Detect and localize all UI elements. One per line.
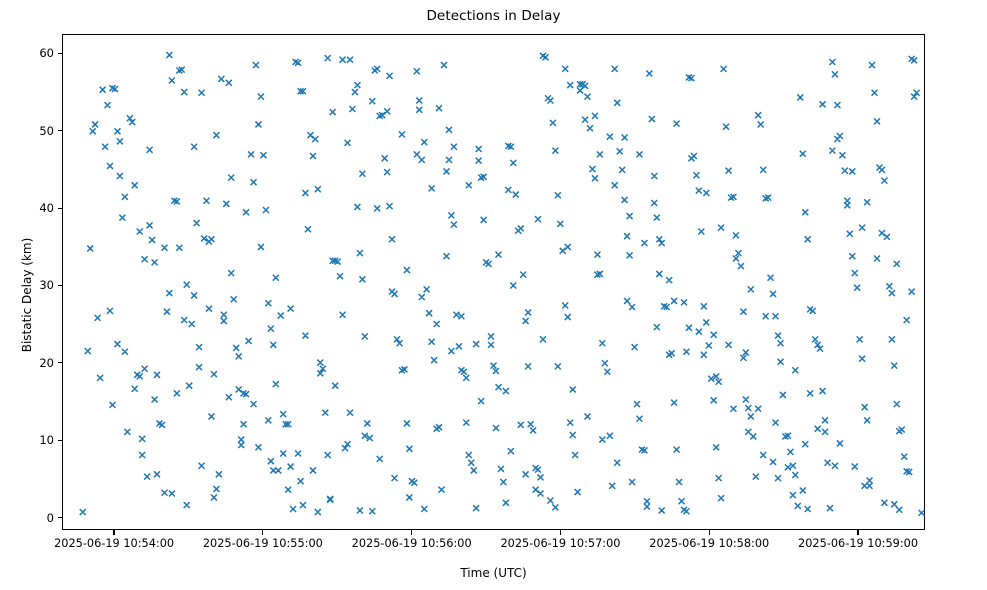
x-tick-mark (113, 530, 114, 535)
plot-area (62, 34, 925, 530)
y-tick-label: 30 (39, 277, 54, 293)
y-tick-label: 0 (47, 510, 54, 526)
x-tick-mark (560, 530, 561, 535)
y-axis-label-container: Bistatic Delay (km) (0, 0, 24, 590)
y-tick-mark (58, 130, 63, 131)
y-tick-mark (58, 362, 63, 363)
x-axis-label: Time (UTC) (62, 566, 925, 580)
scatter-points (80, 52, 925, 516)
y-tick-label: 60 (39, 45, 54, 61)
x-tick-mark (262, 530, 263, 535)
y-axis-label: Bistatic Delay (km) (20, 0, 34, 590)
y-tick-label: 10 (39, 432, 54, 448)
y-tick-mark (58, 285, 63, 286)
y-tick-label: 50 (39, 123, 54, 139)
y-tick-mark (58, 440, 63, 441)
x-tick-mark (857, 530, 858, 535)
x-tick-label: 2025-06-19 10:58:00 (649, 536, 769, 551)
y-tick-mark (58, 208, 63, 209)
x-tick-mark (709, 530, 710, 535)
scatter-series (63, 35, 924, 529)
y-tick-label: 40 (39, 200, 54, 216)
x-tick-label: 2025-06-19 10:57:00 (500, 536, 620, 551)
matplotlib-figure: Detections in Delay Bistatic Delay (km) … (0, 0, 987, 590)
y-tick-label: 20 (39, 355, 54, 371)
page-title: Detections in Delay (0, 8, 987, 24)
x-tick-label: 2025-06-19 10:54:00 (54, 536, 174, 551)
x-tick-label: 2025-06-19 10:59:00 (798, 536, 918, 551)
x-tick-label: 2025-06-19 10:55:00 (203, 536, 323, 551)
x-tick-mark (411, 530, 412, 535)
x-tick-label: 2025-06-19 10:56:00 (352, 536, 472, 551)
y-tick-mark (58, 517, 63, 518)
y-tick-mark (58, 53, 63, 54)
